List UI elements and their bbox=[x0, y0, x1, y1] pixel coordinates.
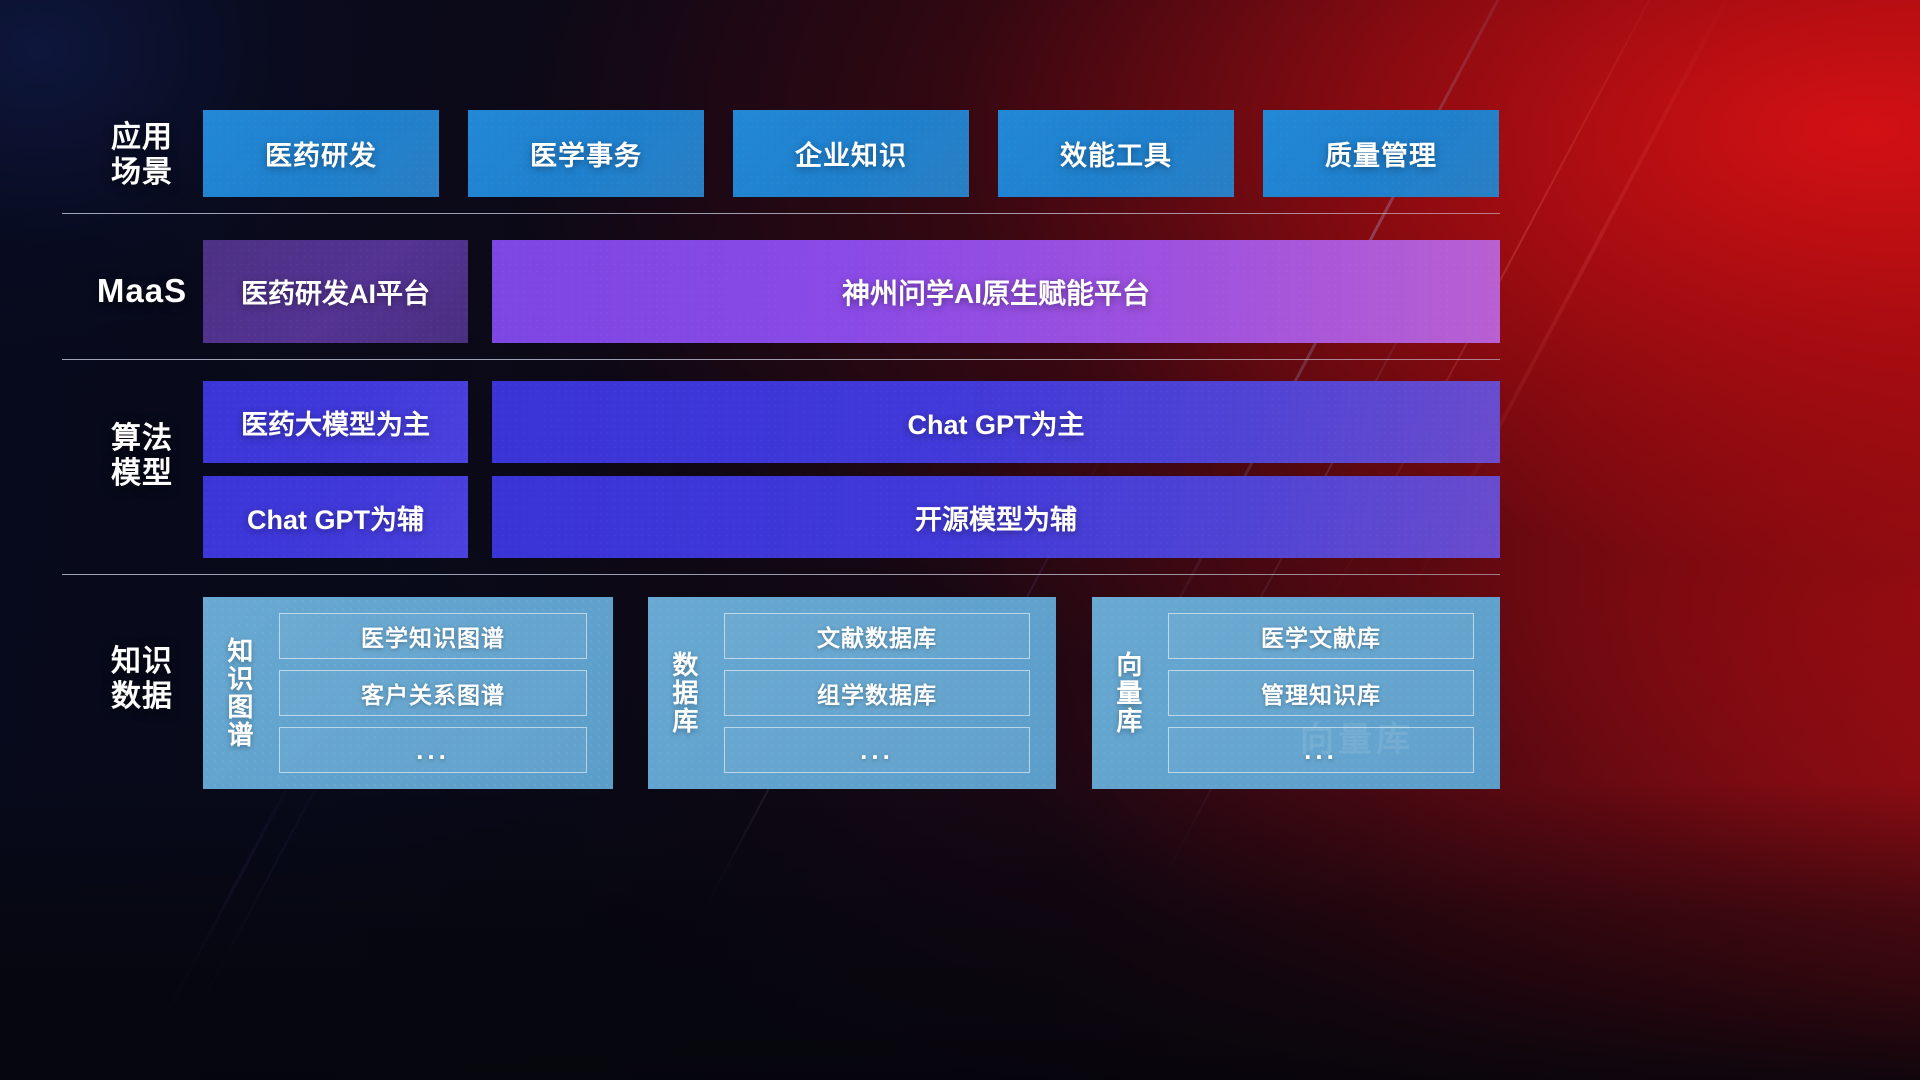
row-label-knowledge: 知识 数据 bbox=[62, 644, 222, 715]
app-box-1[interactable]: 医药研发 bbox=[203, 110, 439, 197]
algo-right-box-2-label: 开源模型为辅 bbox=[915, 498, 1077, 537]
knowledge-item[interactable]: 医学文献库 bbox=[1168, 613, 1474, 659]
knowledge-item[interactable]: 组学数据库 bbox=[724, 670, 1030, 716]
row-label-application: 应用 场景 bbox=[62, 120, 222, 191]
row-label-maas: MaaS bbox=[62, 272, 222, 311]
maas-platform-box[interactable]: 医药研发AI平台 bbox=[203, 240, 468, 343]
algo-left-box-1[interactable]: 医药大模型为主 bbox=[203, 381, 468, 463]
knowledge-item[interactable]: 文献数据库 bbox=[724, 613, 1030, 659]
knowledge-item[interactable]: 客户关系图谱 bbox=[279, 670, 587, 716]
knowledge-group-vector-items: 医学文献库 管理知识库 ... bbox=[1162, 597, 1500, 789]
algo-left-box-2-label: Chat GPT为辅 bbox=[247, 498, 424, 537]
knowledge-group-database[interactable]: 数据库 文献数据库 组学数据库 ... bbox=[648, 597, 1056, 789]
row-label-algorithm: 算法 模型 bbox=[62, 421, 222, 492]
knowledge-group-vector-title: 向量库 bbox=[1092, 597, 1162, 789]
app-box-5-label: 质量管理 bbox=[1325, 134, 1437, 173]
knowledge-item-more[interactable]: ... bbox=[1168, 727, 1474, 773]
app-box-5[interactable]: 质量管理 bbox=[1263, 110, 1499, 197]
app-box-4-label: 效能工具 bbox=[1060, 134, 1172, 173]
algo-right-box-1-label: Chat GPT为主 bbox=[907, 403, 1084, 442]
maas-platform-label: 医药研发AI平台 bbox=[241, 272, 430, 311]
knowledge-group-vector[interactable]: 向量库 医学文献库 管理知识库 ... bbox=[1092, 597, 1500, 789]
knowledge-item[interactable]: 管理知识库 bbox=[1168, 670, 1474, 716]
knowledge-item[interactable]: 医学知识图谱 bbox=[279, 613, 587, 659]
algo-right-box-1[interactable]: Chat GPT为主 bbox=[492, 381, 1500, 463]
maas-enablement-platform-label: 神州问学AI原生赋能平台 bbox=[842, 272, 1150, 312]
architecture-diagram: 应用 场景 医药研发 医学事务 企业知识 效能工具 质量管理 MaaS 医药研发… bbox=[0, 0, 1920, 1080]
knowledge-group-graph-title: 知识图谱 bbox=[203, 597, 273, 789]
knowledge-item-more[interactable]: ... bbox=[724, 727, 1030, 773]
divider-algorithm-knowledge bbox=[62, 574, 1500, 575]
knowledge-group-database-title: 数据库 bbox=[648, 597, 718, 789]
knowledge-group-graph[interactable]: 知识图谱 医学知识图谱 客户关系图谱 ... bbox=[203, 597, 613, 789]
app-box-4[interactable]: 效能工具 bbox=[998, 110, 1234, 197]
app-box-3-label: 企业知识 bbox=[795, 134, 907, 173]
app-box-1-label: 医药研发 bbox=[265, 134, 377, 173]
knowledge-group-database-items: 文献数据库 组学数据库 ... bbox=[718, 597, 1056, 789]
maas-enablement-platform-box[interactable]: 神州问学AI原生赋能平台 bbox=[492, 240, 1500, 343]
algo-left-box-2[interactable]: Chat GPT为辅 bbox=[203, 476, 468, 558]
app-box-2[interactable]: 医学事务 bbox=[468, 110, 704, 197]
algo-right-box-2[interactable]: 开源模型为辅 bbox=[492, 476, 1500, 558]
algo-left-box-1-label: 医药大模型为主 bbox=[241, 403, 430, 442]
divider-application-maas bbox=[62, 213, 1500, 214]
app-box-3[interactable]: 企业知识 bbox=[733, 110, 969, 197]
app-box-2-label: 医学事务 bbox=[530, 134, 642, 173]
knowledge-item-more[interactable]: ... bbox=[279, 727, 587, 773]
knowledge-group-graph-items: 医学知识图谱 客户关系图谱 ... bbox=[273, 597, 613, 789]
divider-maas-algorithm bbox=[62, 359, 1500, 360]
